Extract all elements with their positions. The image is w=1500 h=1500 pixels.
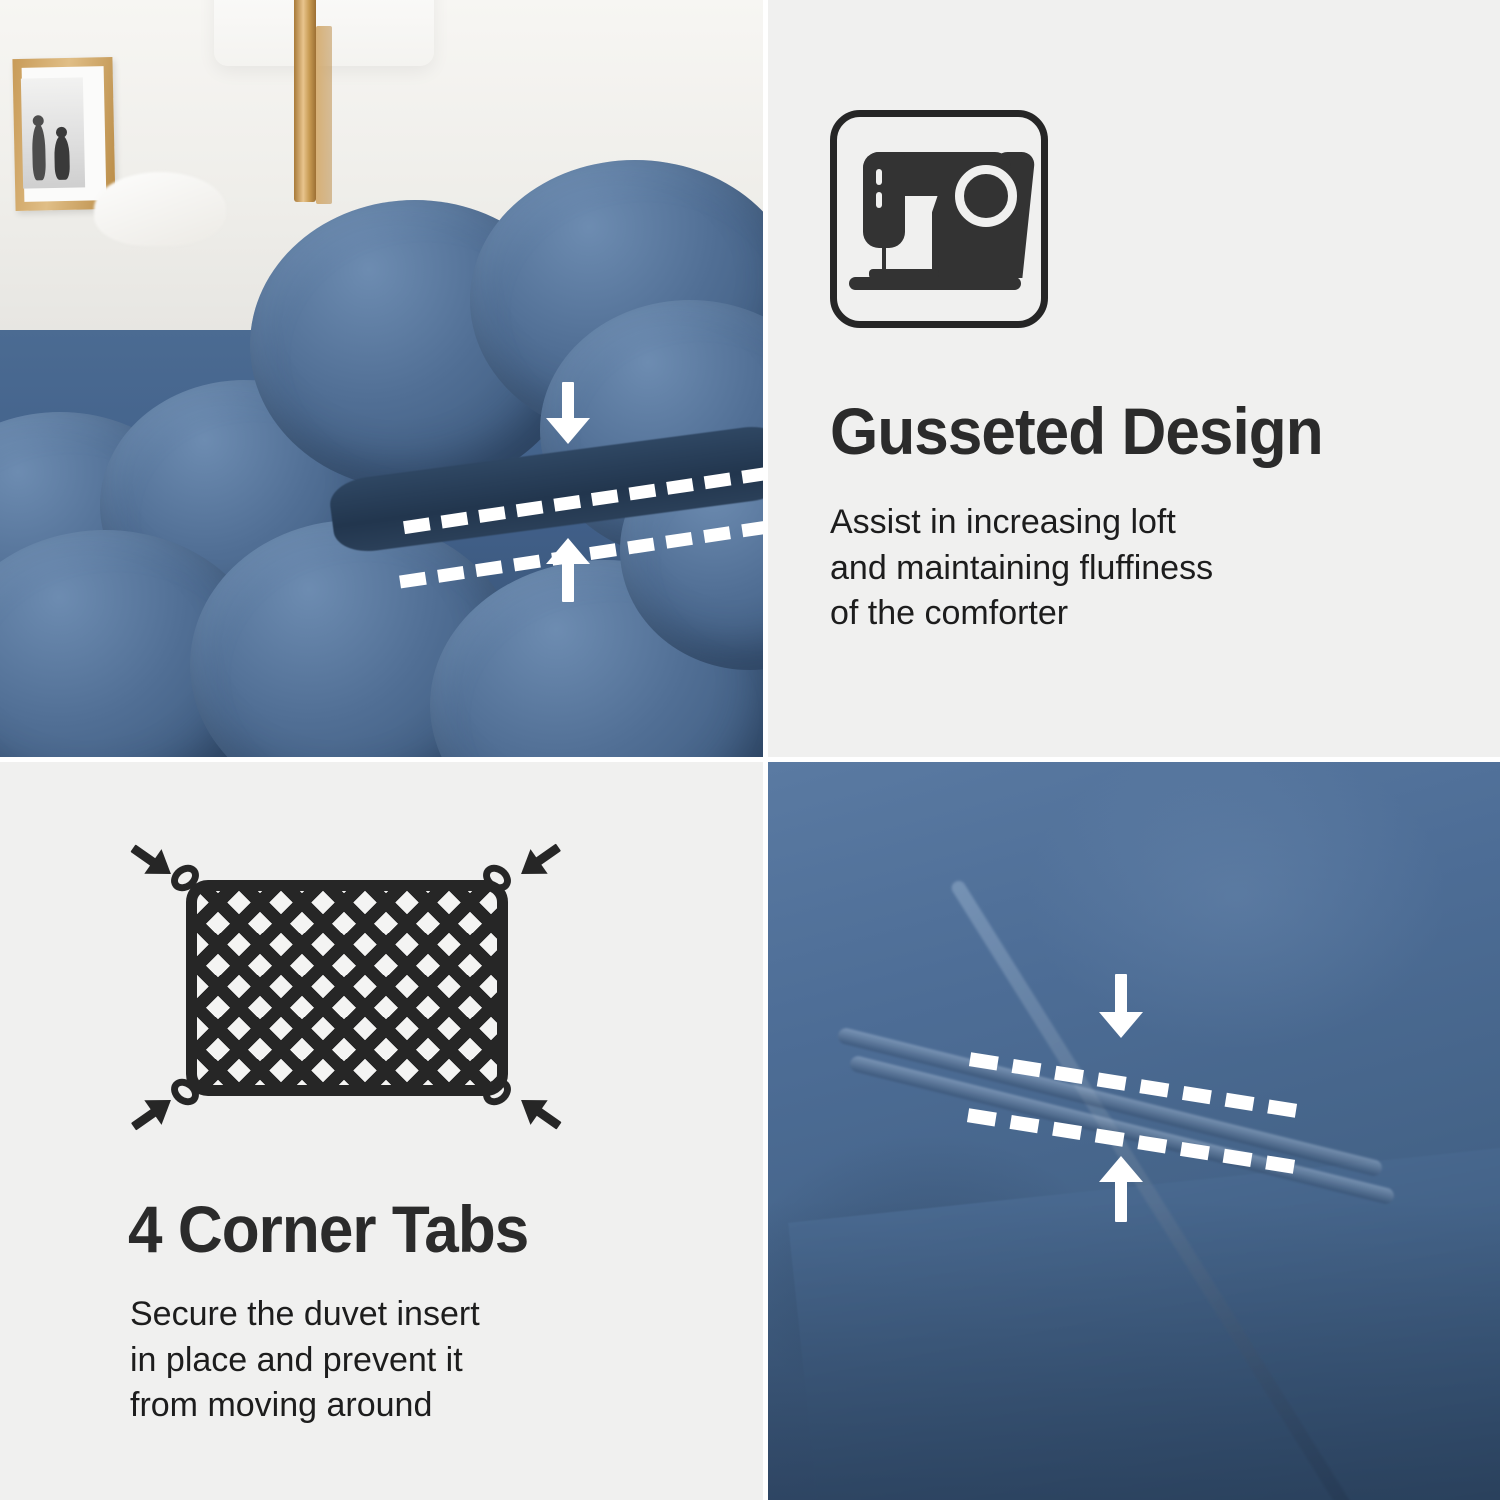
quadrant-gusseted-design: Gusseted Design Assist in increasing lof… [768,0,1500,757]
corner-tabs-icon [130,842,560,1132]
arrow-diagonal-icon [508,1080,580,1152]
quadrant-corner-tabs: 4 Corner Tabs Secure the duvet insert in… [0,762,763,1500]
comforter-corner-photo [768,762,1500,1500]
comforter-photo [0,0,763,757]
photo-shadow [768,1200,1500,1500]
machine-bed [849,277,1021,290]
gusseted-design-body: Assist in increasing loft and maintainin… [830,500,1213,637]
body-line: in place and prevent it [130,1338,480,1384]
artwork-figure [54,136,70,180]
infographic-board: Gusseted Design Assist in increasing lof… [0,0,1500,1500]
artwork-figure [32,124,46,180]
body-line: from moving around [130,1383,480,1429]
lamp-base [294,0,316,202]
body-line: Assist in increasing loft [830,500,1213,546]
pillow [94,172,226,246]
lamp-base-highlight [316,26,332,204]
framed-artwork [21,77,85,188]
body-line: of the comforter [830,591,1213,637]
arrow-down-icon [1098,974,1144,1040]
machine-handwheel [955,165,1017,227]
arrow-up-icon [546,538,590,600]
corner-tabs-heading: 4 Corner Tabs [128,1196,528,1263]
arrow-diagonal-icon [508,822,580,894]
machine-head [863,152,905,248]
quadrant-gusset-photo [0,0,763,757]
sewing-machine-icon [830,110,1048,328]
quadrant-gusset-corner-photo [768,762,1500,1500]
arrow-down-icon [546,382,590,444]
arrow-up-icon [1098,1156,1144,1222]
gusseted-design-heading: Gusseted Design [830,398,1323,465]
body-line: and maintaining fluffiness [830,546,1213,592]
body-line: Secure the duvet insert [130,1292,480,1338]
quilted-duvet-shape [186,880,508,1096]
corner-tabs-body: Secure the duvet insert in place and pre… [130,1292,480,1429]
